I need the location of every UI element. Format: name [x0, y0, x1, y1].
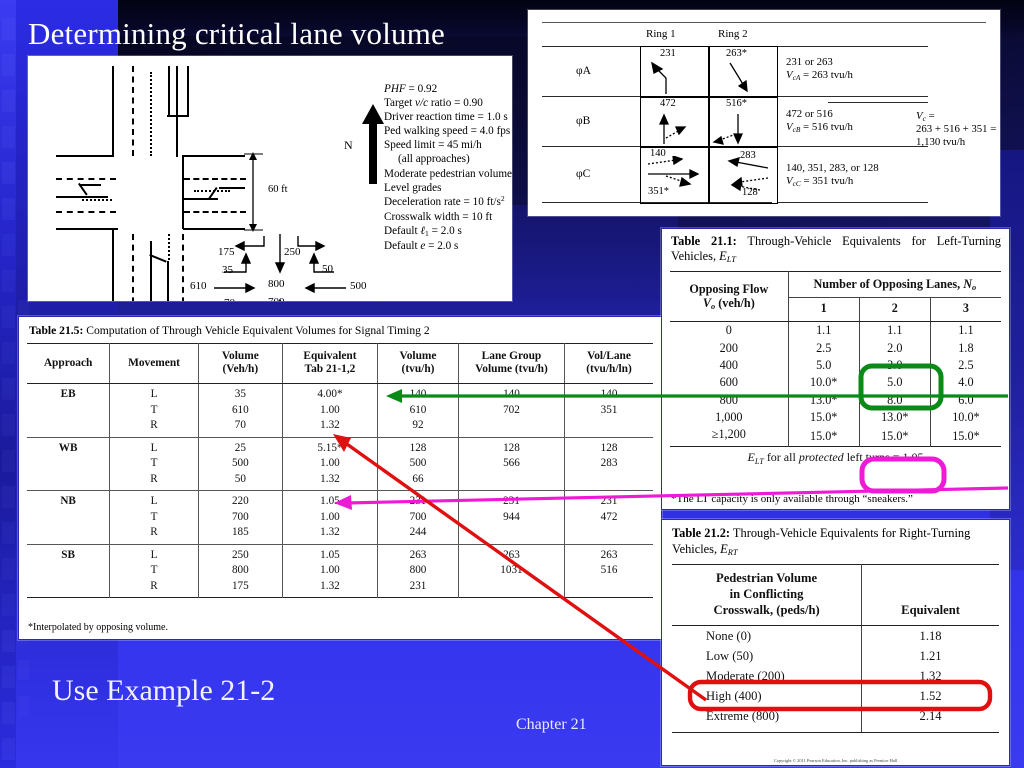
cell-equivalent: 1.051.001.32: [282, 544, 377, 598]
cell-lane3: 1.8: [930, 339, 1001, 356]
header-equivalent: Equivalent: [862, 565, 999, 626]
assumption-ped-speed: Ped walking speed = 4.0 fps: [384, 124, 512, 138]
table-row: NB LTR 220700185 1.051.001.32 231700244 …: [27, 491, 653, 545]
cell-equivalent: 1.21: [862, 646, 999, 666]
cell-lane1: 15.0*: [788, 409, 859, 426]
volume-nb-through-top: 800: [268, 278, 285, 290]
cell-volume-tvuh: 12850066: [378, 437, 459, 491]
cell-lane2: 3.0: [859, 357, 930, 374]
background-square: [2, 378, 15, 400]
assumption-crosswalk: Crosswalk width = 10 ft: [384, 210, 512, 224]
phaseB-ring2-value: 516*: [726, 98, 747, 109]
cell-lane1: 15.0*: [788, 426, 859, 447]
table-21-5-caption: Table 21.5: Computation of Through Vehic…: [29, 324, 430, 337]
cell-lane3: 4.0: [930, 374, 1001, 391]
phase-label-C: φC: [576, 168, 590, 180]
use-example-label: Use Example 21-2: [52, 674, 275, 708]
background-square: [2, 630, 15, 652]
phase-label-A: φA: [576, 65, 591, 77]
table-row: Moderate (200)1.32: [672, 666, 999, 686]
cell-equivalent: 4.00*1.001.32: [282, 384, 377, 438]
table-row: Low (50)1.21: [672, 646, 999, 666]
dimension-label-60ft: 60 ft: [268, 184, 288, 195]
row-header-opposing-flow: Opposing FlowVo (veh/h): [670, 272, 788, 322]
cell-lane2: 1.1: [859, 322, 930, 340]
cell-approach: WB: [27, 437, 110, 491]
cell-ped-label: Extreme (800): [672, 706, 862, 732]
background-square: [2, 450, 15, 472]
table-row: High (400)1.52: [672, 686, 999, 706]
table-21-2-panel: Table 21.2: Through-Vehicle Equivalents …: [661, 519, 1010, 766]
table-21-5-head: Approach Movement Volume(Veh/h) Equivale…: [27, 344, 653, 384]
cell-lane2: 2.0: [859, 339, 930, 356]
assumption-default-l1: Default ℓ1 = 2.0 s: [384, 224, 512, 239]
cell-ped-label: None (0): [672, 626, 862, 647]
cell-volume-tvuh: 231700244: [378, 491, 459, 545]
cell-lane1: 10.0*: [788, 374, 859, 391]
table-row: None (0)1.18: [672, 626, 999, 647]
phaseA-summary-line2: VcA = 263 tvu/h: [786, 69, 853, 82]
table-row: 2002.52.01.8: [670, 339, 1001, 356]
cell-equivalent: 5.15*1.001.32: [282, 437, 377, 491]
assumption-default-e: Default e = 2.0 s: [384, 239, 512, 253]
volume-nb-right: 250: [284, 246, 301, 258]
table-21-1-footnote: *The LT capacity is only available throu…: [671, 493, 913, 505]
chapter-label: Chapter 21: [516, 716, 587, 734]
volume-eb-left: 35: [222, 264, 233, 276]
lane-col-1: 1: [788, 298, 859, 322]
background-square: [2, 666, 15, 688]
cell-lane-group-volume: 140702: [458, 384, 564, 438]
table-21-2-copyright: Copyright © 2011 Pearson Education, Inc.…: [662, 758, 1009, 763]
dimension-60ft-arrow: [241, 152, 265, 232]
table-21-5-panel: Table 21.5: Computation of Through Vehic…: [18, 316, 662, 640]
cell-approach: SB: [27, 544, 110, 598]
assumption-speed-limit: Speed limit = 45 mi/h: [384, 138, 512, 152]
table-21-5-caption-text: Computation of Through Vehicle Equivalen…: [86, 324, 429, 337]
cell-equivalent: 1.32: [862, 666, 999, 686]
assumption-ped-volumes: Moderate pedestrian volumes: [384, 167, 512, 181]
cell-flow: ≥1,200: [670, 426, 788, 447]
col-approach: Approach: [27, 344, 110, 384]
cell-equivalent: 1.18: [862, 626, 999, 647]
volume-nb-left: 175: [218, 246, 235, 258]
cell-lane-group-volume: 128566: [458, 437, 564, 491]
cell-flow: 600: [670, 374, 788, 391]
cell-lane1: 1.1: [788, 322, 859, 340]
background-square: [2, 162, 15, 184]
assumption-grades: Level grades: [384, 181, 512, 195]
phaseB-summary-line1: 472 or 516: [786, 108, 853, 121]
table-21-5-footnote: *Interpolated by opposing volume.: [28, 622, 168, 633]
cell-equivalent: 1.52: [862, 686, 999, 706]
phaseA-movement-arrows: [640, 60, 776, 96]
table-row: WB LTR 2550050 5.15*1.001.32 12850066 12…: [27, 437, 653, 491]
table-21-1: Opposing FlowVo (veh/h) Number of Opposi…: [670, 271, 1001, 468]
cell-volume-vehh: 3561070: [198, 384, 282, 438]
table-row: 60010.0*5.04.0: [670, 374, 1001, 391]
north-label: N: [344, 138, 353, 153]
cell-flow: 1,000: [670, 409, 788, 426]
cell-equivalent: 1.051.001.32: [282, 491, 377, 545]
background-square: [2, 522, 15, 544]
table-21-5-body: EB LTR 3561070 4.00*1.001.32 14061092 14…: [27, 384, 653, 598]
phaseA-summary-line1: 231 or 263: [786, 56, 853, 69]
cell-flow: 0: [670, 322, 788, 340]
vc-line2: 1,130 tvu/h: [916, 136, 996, 149]
cell-lane2: 8.0: [859, 392, 930, 409]
cell-ped-label: Moderate (200): [672, 666, 862, 686]
phaseB-ring1-value: 472: [660, 98, 676, 109]
background-square: [2, 342, 15, 364]
cell-flow: 800: [670, 392, 788, 409]
ring1-header: Ring 1: [646, 28, 676, 40]
assumption-phf: PHF = 0.92: [384, 82, 512, 96]
table-21-5: Approach Movement Volume(Veh/h) Equivale…: [27, 343, 653, 598]
cell-lane3: 1.1: [930, 322, 1001, 340]
north-arrow-icon: [362, 104, 384, 186]
cell-volume-tvuh: 263800231: [378, 544, 459, 598]
phaseB-summary-line2: VcB = 516 tvu/h: [786, 121, 853, 134]
assumption-vc-ratio: Target v/c ratio = 0.90: [384, 96, 512, 110]
table-21-2: Pedestrian Volume in Conflicting Crosswa…: [672, 564, 999, 733]
cell-vol-per-lane: 128283: [565, 437, 653, 491]
cell-equivalent: 2.14: [862, 706, 999, 732]
phase-label-B: φB: [576, 115, 590, 127]
cell-lane3: 10.0*: [930, 409, 1001, 426]
cell-lane2: 15.0*: [859, 426, 930, 447]
cell-vol-per-lane: 263516: [565, 544, 653, 598]
table-21-1-panel: Table 21.1: Through-Vehicle Equivalents …: [661, 228, 1010, 510]
cell-lane2: 13.0*: [859, 409, 930, 426]
cell-approach: EB: [27, 384, 110, 438]
cell-lane-group-volume: 2631031: [458, 544, 564, 598]
cell-volume-vehh: 250800175: [198, 544, 282, 598]
volume-wb-left: 50: [322, 263, 333, 275]
cell-lane1: 13.0*: [788, 392, 859, 409]
cell-volume-vehh: 220700185: [198, 491, 282, 545]
assumption-decel: Deceleration rate = 10 ft/s2: [384, 195, 512, 210]
phaseA-ring2-value: 263*: [726, 48, 747, 59]
cell-lane1: 2.5: [788, 339, 859, 356]
assumption-all-approaches: (all approaches): [384, 152, 512, 166]
background-square: [2, 486, 15, 508]
cell-movements: LTR: [110, 544, 199, 598]
background-square: [2, 126, 15, 148]
volume-wb-through: 500: [350, 280, 367, 292]
col-movement: Movement: [110, 344, 199, 384]
table-row: SB LTR 250800175 1.051.001.32 263800231 …: [27, 544, 653, 598]
cell-lane3: 2.5: [930, 357, 1001, 374]
cell-flow: 400: [670, 357, 788, 374]
cell-lane2: 5.0: [859, 374, 930, 391]
col-volume-tvuh: Volume(tvu/h): [378, 344, 459, 384]
cell-movements: LTR: [110, 384, 199, 438]
background-square: [2, 702, 15, 724]
table-row: 1,00015.0*13.0*10.0*: [670, 409, 1001, 426]
background-square: [2, 558, 15, 580]
table-21-2-caption-number: Table 21.2:: [672, 526, 730, 540]
col-volume-vehh: Volume(Veh/h): [198, 344, 282, 384]
background-square: [2, 306, 15, 328]
cell-vol-per-lane: 231472: [565, 491, 653, 545]
phaseC-summary-line1: 140, 351, 283, or 128: [786, 162, 879, 175]
intersection-figure-panel: 60 ft 55 ft N: [28, 56, 512, 301]
cell-volume-vehh: 2550050: [198, 437, 282, 491]
background-square: [18, 696, 29, 716]
ring-diagram-panel: Ring 1 Ring 2 φA φB φC 231 263* 472 516*: [528, 10, 1000, 216]
critical-volume-total: Vc = 263 + 516 + 351 = 1,130 tvu/h: [916, 110, 996, 149]
cell-approach: NB: [27, 491, 110, 545]
cell-lane3: 6.0: [930, 392, 1001, 409]
phaseB-movement-arrows: [640, 110, 776, 146]
table-row: 80013.0*8.06.0: [670, 392, 1001, 409]
cell-lane1: 5.0: [788, 357, 859, 374]
protected-left-turn-note: ELT for all protected left turns = 1.05: [670, 447, 1001, 469]
cell-flow: 200: [670, 339, 788, 356]
table-row: 4005.03.02.5: [670, 357, 1001, 374]
background-square: [2, 18, 15, 40]
assumptions-list: PHF = 0.92 Target v/c ratio = 0.90 Drive…: [384, 82, 512, 253]
ring2-header: Ring 2: [718, 28, 748, 40]
cell-ped-label: Low (50): [672, 646, 862, 666]
vc-line1: 263 + 516 + 351 =: [916, 123, 996, 136]
header-pedestrian-volume: Pedestrian Volume in Conflicting Crosswa…: [672, 565, 862, 626]
background-square: [18, 660, 29, 680]
table-row: ≥1,20015.0*15.0*15.0*: [670, 426, 1001, 447]
background-square: [2, 270, 15, 292]
table-row: EB LTR 3561070 4.00*1.001.32 14061092 14…: [27, 384, 653, 438]
background-square: [2, 198, 15, 220]
vc-label: Vc =: [916, 110, 996, 123]
cell-movements: LTR: [110, 437, 199, 491]
table-row: 01.11.11.1: [670, 322, 1001, 340]
col-equivalent: EquivalentTab 21-1,2: [282, 344, 377, 384]
lane-col-2: 2: [859, 298, 930, 322]
phaseC-movement-arrows: [640, 156, 776, 200]
cell-movements: LTR: [110, 491, 199, 545]
table-21-1-caption: Table 21.1: Through-Vehicle Equivalents …: [671, 234, 1001, 265]
col-lane-group-volume: Lane GroupVolume (tvu/h): [458, 344, 564, 384]
cell-vol-per-lane: 140351: [565, 384, 653, 438]
background-square: [2, 414, 15, 436]
background-square: [2, 54, 15, 76]
table-21-2-caption: Table 21.2: Through-Vehicle Equivalents …: [672, 526, 1000, 558]
cell-volume-tvuh: 14061092: [378, 384, 459, 438]
assumption-reaction-time: Driver reaction time = 1.0 s: [384, 110, 512, 124]
background-square: [2, 90, 15, 112]
group-header-opposing-lanes: Number of Opposing Lanes, No: [788, 272, 1001, 298]
lane-col-3: 3: [930, 298, 1001, 322]
cell-lane3: 15.0*: [930, 426, 1001, 447]
cell-lane-group-volume: 231944: [458, 491, 564, 545]
table-21-5-caption-number: Table 21.5:: [29, 324, 83, 337]
cell-ped-label: High (400): [672, 686, 862, 706]
volume-eb-through: 610: [190, 280, 207, 292]
background-square: [2, 738, 15, 760]
background-square: [2, 234, 15, 256]
table-21-1-caption-number: Table 21.1:: [671, 234, 737, 248]
col-vol-per-lane: Vol/Lane(tvu/h/ln): [565, 344, 653, 384]
background-square: [2, 594, 15, 616]
page-title: Determining critical lane volume: [28, 16, 445, 52]
phaseC-summary-line2: VcC = 351 tvu/h: [786, 175, 879, 188]
phaseA-ring1-value: 231: [660, 48, 676, 59]
volume-eb-right: 70: [224, 297, 235, 301]
table-row: Extreme (800)2.14: [672, 706, 999, 732]
volume-nb-through-bottom: 700: [268, 296, 285, 301]
